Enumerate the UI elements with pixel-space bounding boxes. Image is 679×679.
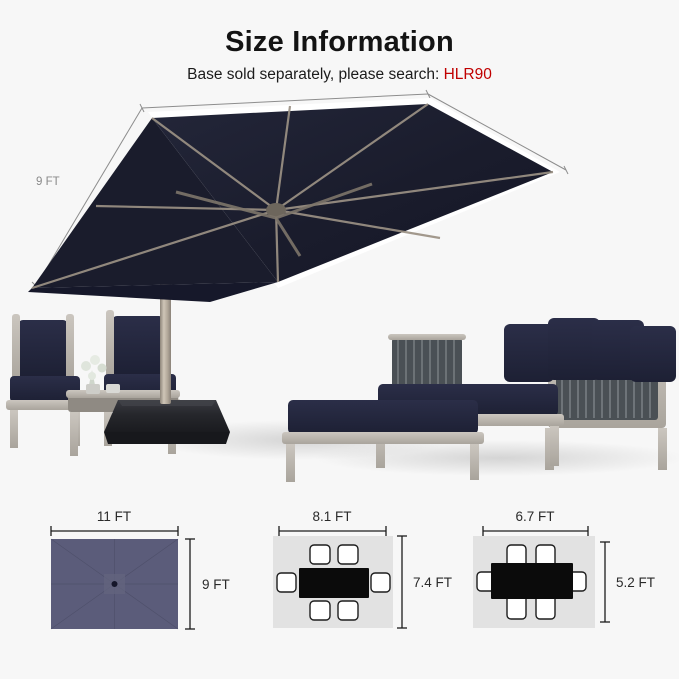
eight-height-label: 5.2 FT xyxy=(616,575,655,590)
six-height-label: 7.4 FT xyxy=(413,575,452,590)
canopy-height-label: 9 FT xyxy=(202,577,230,592)
canopy-width-label: 11 FT xyxy=(97,509,131,524)
diagram-six-seat-coverage: 8.1 FT 7.4 FT xyxy=(258,505,463,655)
size-information-infographic: Size Information Base sold separately, p… xyxy=(0,0,679,679)
base-notice-text: Base sold separately, please search: xyxy=(187,66,443,83)
sofa-woven-panel xyxy=(388,334,466,390)
six-seat-table xyxy=(299,568,369,598)
six-width-label: 8.1 FT xyxy=(312,509,351,524)
six-width-dimension: 8.1 FT xyxy=(279,509,386,536)
eight-width-dimension: 6.7 FT xyxy=(483,509,588,536)
eight-height-dimension: 5.2 FT xyxy=(600,542,655,622)
base-model-code: HLR90 xyxy=(444,66,492,83)
page-title: Size Information xyxy=(0,26,679,59)
hero-product-scene: 11 FT 9 FT xyxy=(0,88,679,488)
base-notice: Base sold separately, please search: HLR… xyxy=(0,66,679,84)
sofa-back-cushions xyxy=(504,318,676,382)
diagram-eight-seat-coverage: 6.7 FT 5.2 FT xyxy=(455,505,665,655)
umbrella-canopy xyxy=(28,98,560,302)
canopy-height-dimension: 9 FT xyxy=(185,539,230,629)
diagram-canopy-top-view: 11 FT 9 FT xyxy=(30,505,260,655)
umbrella-base xyxy=(104,400,230,444)
six-height-dimension: 7.4 FT xyxy=(397,536,452,628)
canopy-rect xyxy=(51,539,178,629)
canopy-width-dimension: 11 FT xyxy=(51,509,178,536)
eight-width-label: 6.7 FT xyxy=(515,509,554,524)
eight-seat-table xyxy=(491,563,573,599)
furniture-floor-shadow xyxy=(315,440,679,476)
hero-depth-label: 9 FT xyxy=(36,176,60,188)
